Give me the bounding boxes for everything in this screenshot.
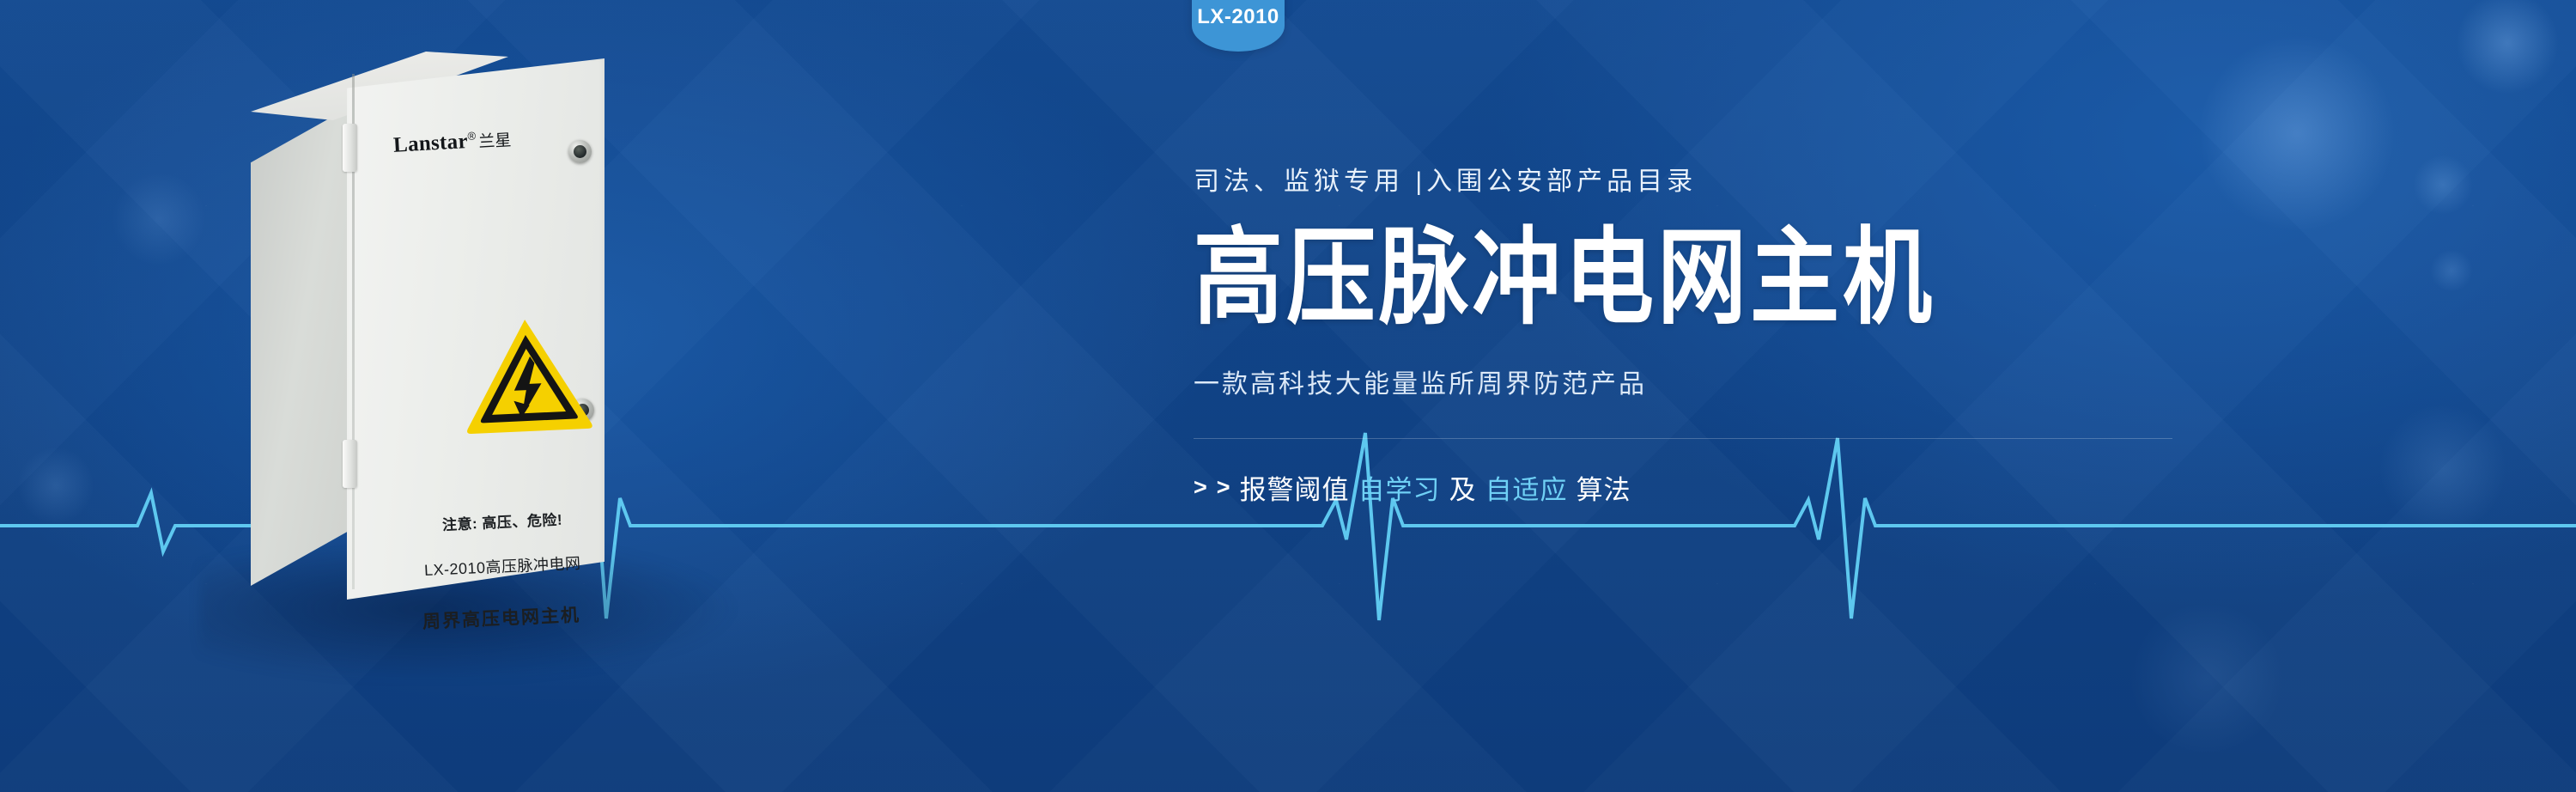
- brand-name-cn: 兰星: [478, 127, 512, 152]
- feature-part-5: 算法: [1577, 468, 1631, 507]
- feature-part-4: 自适应: [1485, 468, 1568, 507]
- feature-part-2: 自学习: [1358, 468, 1441, 507]
- hero-copy-block: 司法、监狱专用 |入围公安部产品目录 高压脉冲电网主机 一款高科技大能量监所周界…: [1194, 160, 2499, 507]
- cabinet-lock-top: [568, 140, 592, 163]
- hero-divider: [1194, 438, 2172, 439]
- cabinet-hinge-top: [343, 124, 357, 172]
- registered-trademark-icon: ®: [467, 129, 476, 143]
- high-voltage-warning-icon: [460, 314, 594, 436]
- chevron-right-icon-1: >: [1194, 474, 1208, 501]
- hero-eyebrow: 司法、监狱专用 |入围公安部产品目录: [1194, 160, 2499, 198]
- model-badge-label: LX-2010: [1197, 5, 1279, 29]
- cabinet-side-panel: [251, 105, 354, 586]
- product-hero-banner: LX-2010 Lanstar ® 兰星 注意: 高压、危险! LX-2010高…: [0, 0, 2576, 792]
- model-badge: LX-2010: [1192, 0, 1285, 52]
- hero-headline: 高压脉冲电网主机: [1194, 222, 2499, 336]
- chevron-right-icon-2: >: [1217, 474, 1231, 501]
- brand-name-en: Lanstar: [392, 130, 468, 158]
- product-image: Lanstar ® 兰星 注意: 高压、危险! LX-2010高压脉冲电网 周界…: [225, 52, 757, 653]
- hero-tagline: 一款高科技大能量监所周界防范产品: [1194, 362, 2499, 400]
- feature-part-1: 报警阈值: [1240, 468, 1350, 507]
- feature-part-3: 及: [1449, 468, 1477, 507]
- hero-feature-line: > > 报警阈值自学习及自适应算法: [1194, 468, 2499, 507]
- cabinet-hinge-bottom: [343, 440, 357, 488]
